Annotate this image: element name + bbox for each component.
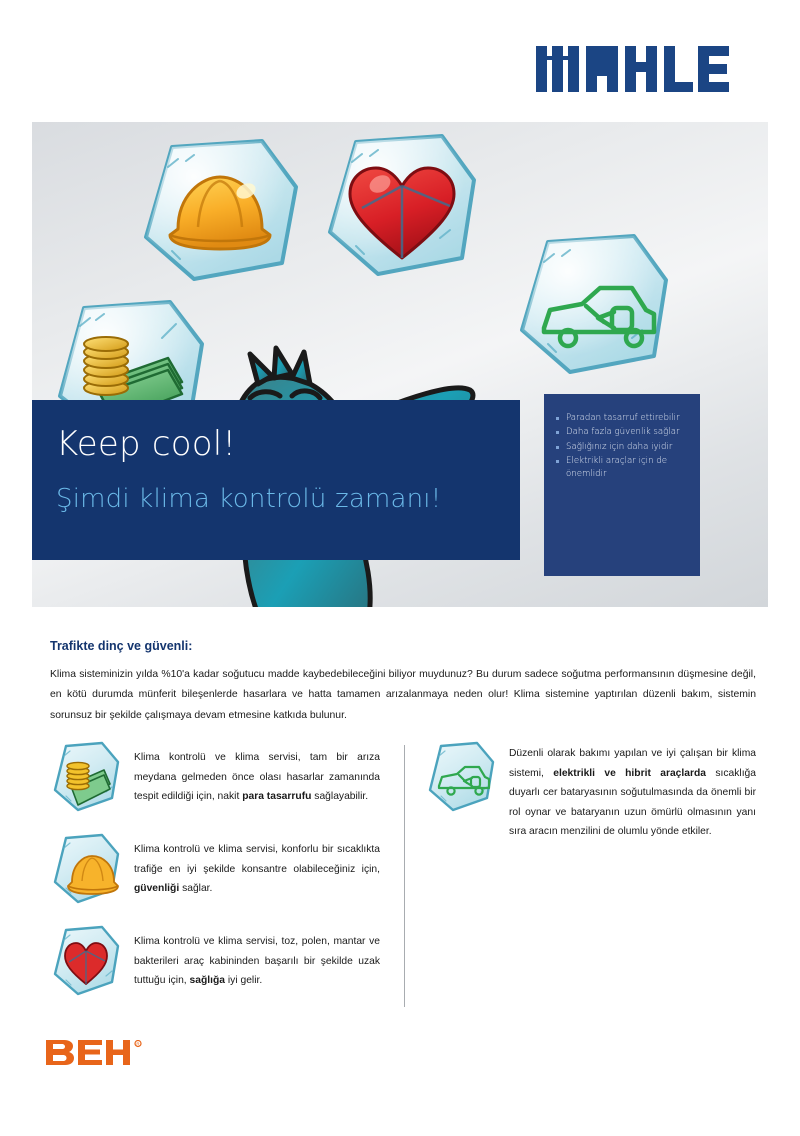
column-divider [404,745,405,1007]
benefit-item: Sağlığınız için daha iyidir [556,441,690,453]
hero-subheadline: Şimdi klima kontrolü zamanı! [56,485,520,515]
mahle-wordmark-icon [536,46,768,92]
feature-safety: Klima kontrolü ve klima servisi, konforl… [50,832,380,908]
feature-text-bold: güvenliği [134,883,179,894]
page-footer: R [0,1024,800,1136]
electric-plug-icon [425,740,497,816]
feature-text-bold: sağlığa [190,975,225,986]
page-header [0,0,800,122]
section-title: Trafikte dinç ve güvenli: [50,639,192,653]
feature-electric: Düzenli olarak bakımı yapılan ve iyi çal… [425,740,756,842]
ice-cube-heart-icon [330,136,474,274]
benefit-item: Elektrikli araçlar için de önemlidir [556,455,690,480]
hero-banner: Keep cool! Şimdi klima kontrolü zamanı! [32,400,520,560]
ice-cube-electric-icon [522,236,666,372]
feature-text-part: sağlar. [179,883,212,894]
feature-text-part: iyi gelir. [225,975,262,986]
intro-paragraph: Klima sisteminizin yılda %10'a kadar soğ… [50,665,756,726]
feature-text-bold: para tasarrufu [242,791,311,802]
left-column: Klima kontrolü ve klima servisi, tam bir… [50,740,380,1016]
money-icon [50,740,122,816]
feature-electric-text: Düzenli olarak bakımı yapılan ve iyi çal… [509,740,756,842]
hero-benefits-panel: Paradan tasarruf ettirebilir Daha fazla … [544,394,700,576]
mahle-logo [536,46,768,92]
feature-text-part: Klima kontrolü ve klima servisi, konforl… [134,844,380,875]
hard-hat-icon [50,832,122,908]
hero-section: Keep cool! Şimdi klima kontrolü zamanı! … [32,122,768,607]
benefit-item: Paradan tasarruf ettirebilir [556,412,690,424]
flyer-page: Keep cool! Şimdi klima kontrolü zamanı! … [0,0,800,1136]
ice-cube-hardhat-icon [146,141,296,279]
feature-text-bold: elektrikli ve hibrit araçlarda [553,768,706,779]
feature-text-part: sağlayabilir. [311,791,368,802]
feature-money-text: Klima kontrolü ve klima servisi, tam bir… [134,740,380,807]
heart-icon [50,924,122,1000]
behr-logo: R [46,1040,142,1071]
hero-headline: Keep cool! [56,426,520,463]
feature-safety-text: Klima kontrolü ve klima servisi, konforl… [134,832,380,899]
right-column: Düzenli olarak bakımı yapılan ve iyi çal… [425,740,756,842]
feature-health-text: Klima kontrolü ve klima servisi, toz, po… [134,924,380,991]
benefit-item: Daha fazla güvenlik sağlar [556,426,690,438]
feature-money: Klima kontrolü ve klima servisi, tam bir… [50,740,380,816]
svg-text:R: R [136,1042,139,1047]
behr-wordmark-icon: R [46,1040,142,1066]
hero-benefits-list: Paradan tasarruf ettirebilir Daha fazla … [556,412,690,480]
feature-health: Klima kontrolü ve klima servisi, toz, po… [50,924,380,1000]
